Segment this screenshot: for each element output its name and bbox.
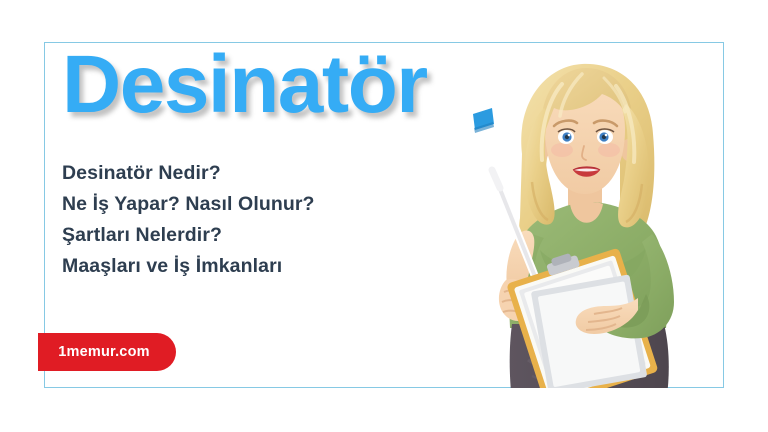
site-badge-label: 1memur.com	[38, 333, 176, 371]
woman-illustration	[470, 42, 724, 388]
subtitle-line: Ne İş Yapar? Nasıl Olunur?	[62, 189, 315, 220]
page-title: Desinatör	[62, 44, 427, 126]
subtitle-list: Desinatör Nedir? Ne İş Yapar? Nasıl Olun…	[62, 158, 315, 282]
blue-accent-shape	[473, 108, 494, 133]
subtitle-line: Maaşları ve İş İmkanları	[62, 251, 315, 282]
banner-root: Desinatör Desinatör Nedir? Ne İş Yapar? …	[0, 0, 768, 432]
site-badge[interactable]: 1memur.com	[38, 333, 176, 371]
subtitle-line: Desinatör Nedir?	[62, 158, 315, 189]
subtitle-line: Şartları Nelerdir?	[62, 220, 315, 251]
